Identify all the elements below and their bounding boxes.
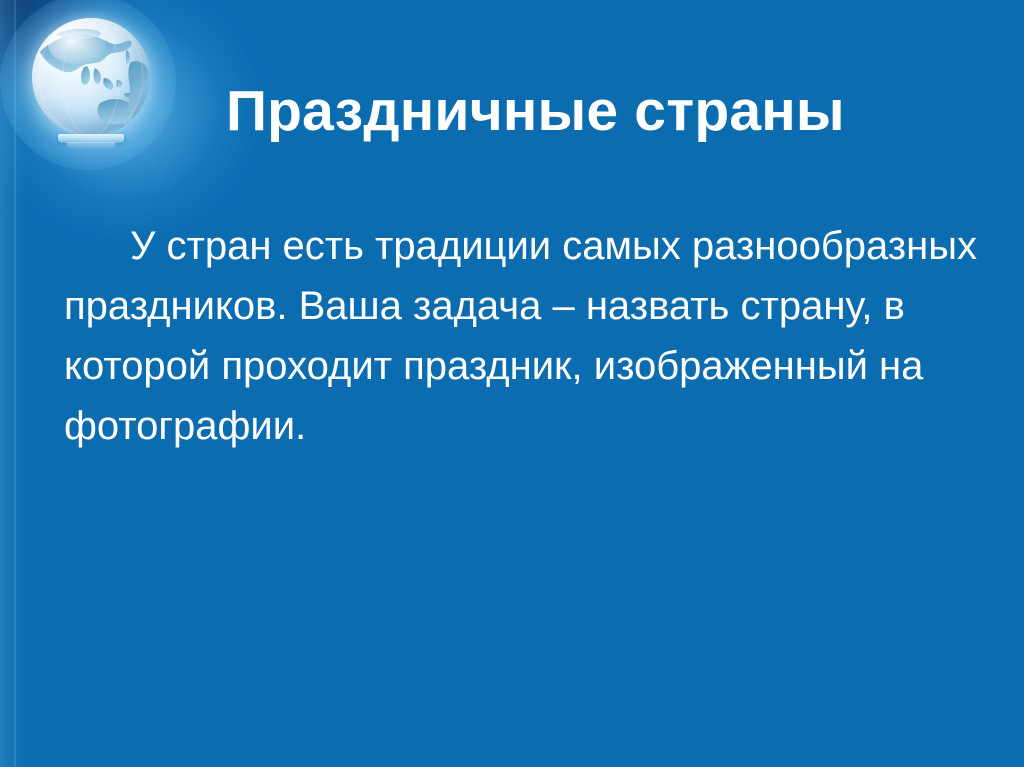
globe-sphere [32,18,150,136]
globe-icon [26,16,150,156]
slide-title: Праздничные страны [226,82,986,141]
slide-body-text: У стран есть традиции самых разнообразны… [64,216,994,456]
globe-stand-foot [67,142,115,148]
globe-continents-icon [32,18,150,136]
presentation-slide: Праздничные страны У стран есть традиции… [0,0,1024,767]
